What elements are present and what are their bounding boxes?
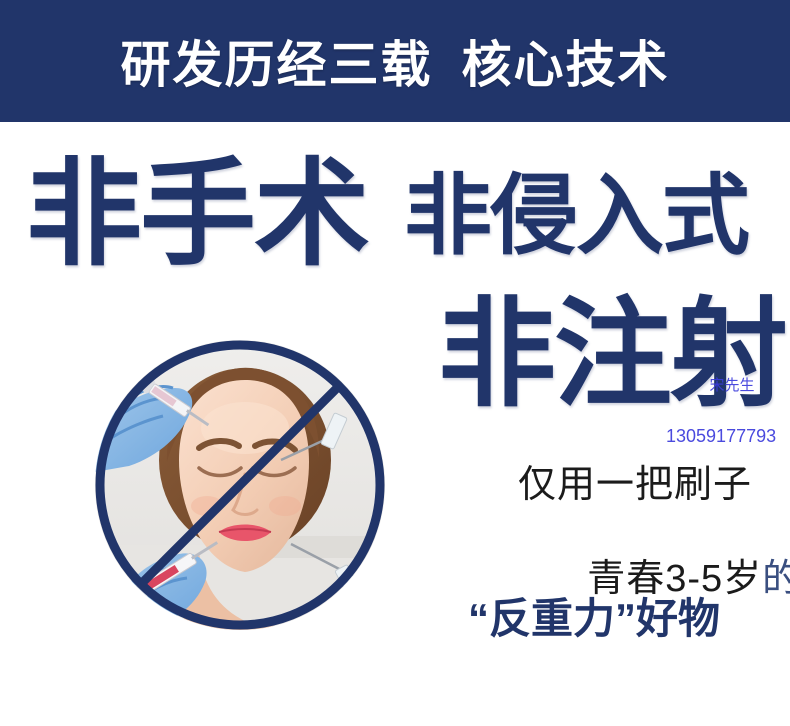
procedure-photo [95,340,385,630]
watermark-name: 宋先生 [688,378,776,394]
banner-title: 研发历经三载 核心技术 [0,0,790,122]
headline-non-invasive: 非侵入式 [404,172,748,260]
header-banner: 研发历经三载 核心技术 [0,0,790,122]
headline-non-surgical: 非手术 [26,156,368,272]
seller-watermark: 宋先生 13059177793 [688,344,776,479]
watermark-phone: 13059177793 [666,427,776,446]
tagline-line-3: “反重力”好物 [468,598,720,640]
tagline-line-2-accent: 的 [762,558,790,600]
tagline-line-2-main: 青春3-5岁 [587,558,762,600]
poster-canvas: 研发历经三载 核心技术 非手术 非侵入式 非注射 [0,0,790,726]
